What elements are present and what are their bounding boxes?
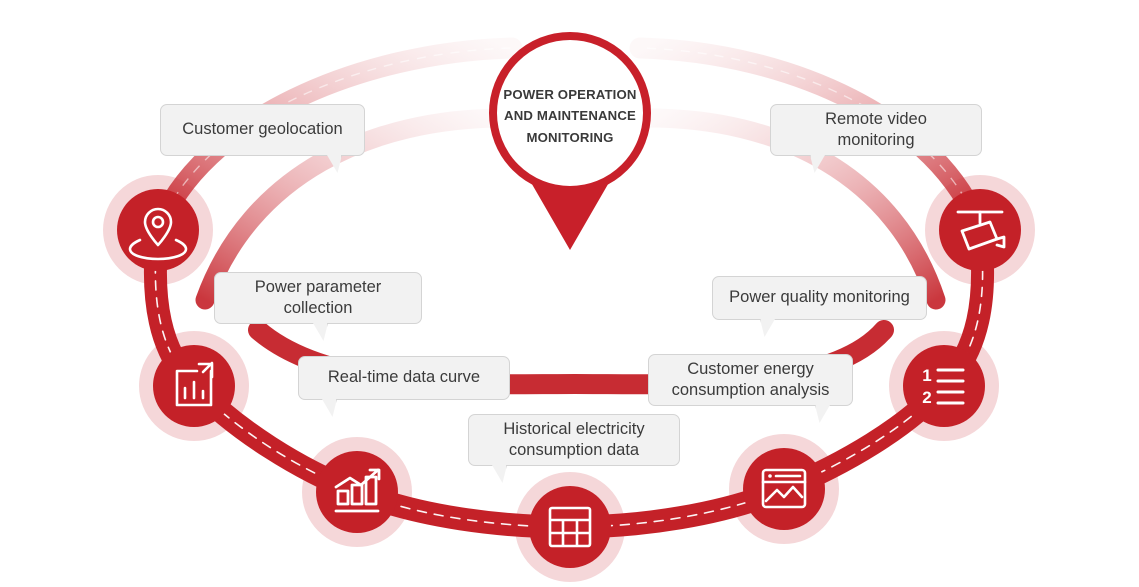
label-customer-geolocation[interactable]: Customer geolocation: [160, 104, 365, 156]
label-remote-video-monitoring[interactable]: Remote video monitoring: [770, 104, 982, 156]
label-historical-electricity-consumption-data[interactable]: Historical electricity consumption data: [468, 414, 680, 466]
label-power-quality-monitoring-text: Power quality monitoring: [729, 287, 910, 308]
label-historical-electricity-consumption-data-text: Historical electricity consumption data: [503, 419, 644, 461]
label-real-time-data-curve-text: Real-time data curve: [328, 367, 480, 388]
label-power-parameter-collection-text: Power parameter collection: [255, 277, 382, 319]
diagram-canvas: 1 2: [0, 0, 1139, 587]
label-customer-energy-consumption-analysis-text: Customer energy consumption analysis: [672, 359, 830, 401]
label-remote-video-monitoring-text: Remote video monitoring: [787, 109, 965, 151]
label-customer-energy-consumption-analysis[interactable]: Customer energy consumption analysis: [648, 354, 853, 406]
center-pin-title: POWER OPERATION AND MAINTENANCE MONITORI…: [486, 84, 654, 148]
label-power-quality-monitoring[interactable]: Power quality monitoring: [712, 276, 927, 320]
label-power-parameter-collection[interactable]: Power parameter collection: [214, 272, 422, 324]
label-real-time-data-curve[interactable]: Real-time data curve: [298, 356, 510, 400]
label-customer-geolocation-text: Customer geolocation: [182, 119, 343, 140]
